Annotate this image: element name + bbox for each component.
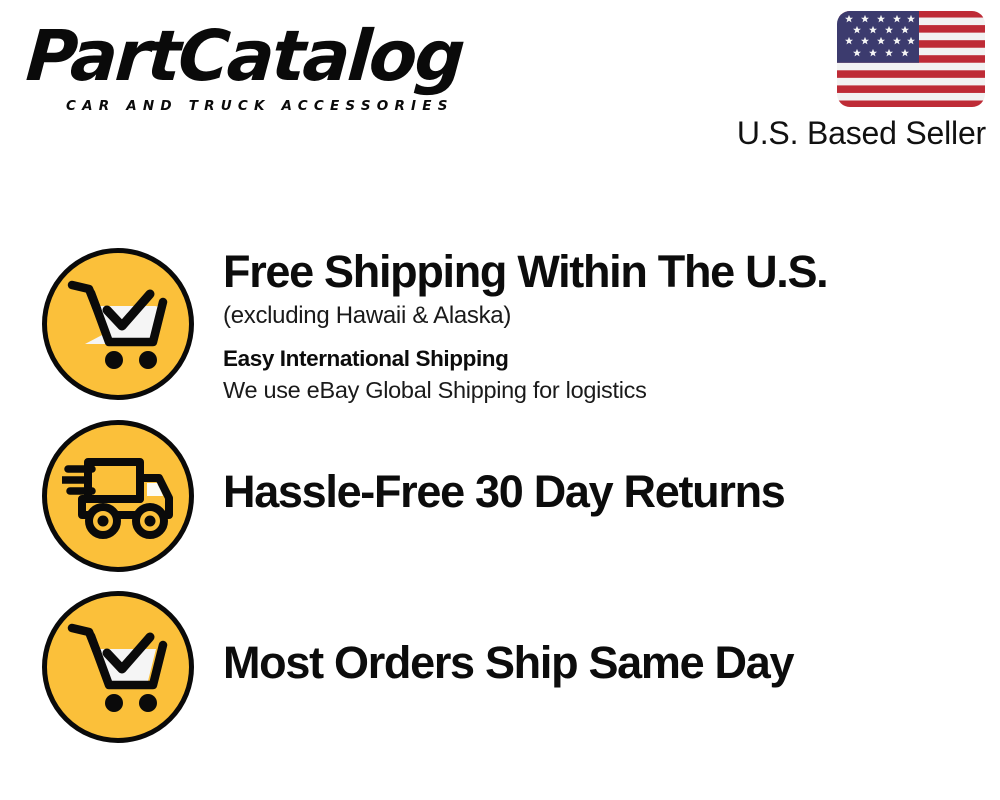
feature-badge: [42, 591, 194, 743]
feature-title: Free Shipping Within The U.S.: [223, 248, 1000, 296]
feature-subtitle-strong: Easy International Shipping: [223, 344, 1000, 374]
feature-row: Most Orders Ship Same Day: [0, 591, 1000, 743]
brand-tagline: CAR AND TRUCK ACCESSORIES: [66, 98, 454, 114]
brand-wordmark: PartCatalog: [24, 20, 465, 92]
feature-title: Hassle-Free 30 Day Returns: [223, 468, 1000, 516]
us-based-seller-block: U.S. Based Seller: [696, 10, 986, 152]
feature-subtitle-detail: We use eBay Global Shipping for logistic…: [223, 375, 1000, 406]
feature-badge: [42, 248, 194, 400]
feature-badge: [42, 420, 194, 572]
feature-title: Most Orders Ship Same Day: [223, 639, 1000, 687]
feature-text-block: Hassle-Free 30 Day Returns: [223, 420, 1000, 516]
feature-subtitle: (excluding Hawaii & Alaska): [223, 300, 1000, 332]
shopping-cart-check-icon: [64, 276, 172, 372]
feature-row: Free Shipping Within The U.S. (excluding…: [0, 248, 1000, 406]
delivery-truck-icon: [62, 452, 174, 540]
promo-banner: PartCatalog CAR AND TRUCK ACCESSORIES: [0, 0, 1000, 800]
brand-logo: PartCatalog CAR AND TRUCK ACCESSORIES: [24, 20, 494, 120]
feature-text-block: Free Shipping Within The U.S. (excluding…: [223, 248, 1000, 406]
feature-text-block: Most Orders Ship Same Day: [223, 591, 1000, 687]
us-based-seller-label: U.S. Based Seller: [696, 114, 986, 152]
us-flag-icon: [836, 10, 986, 108]
feature-row: Hassle-Free 30 Day Returns: [0, 420, 1000, 572]
shopping-cart-check-icon: [64, 619, 172, 715]
